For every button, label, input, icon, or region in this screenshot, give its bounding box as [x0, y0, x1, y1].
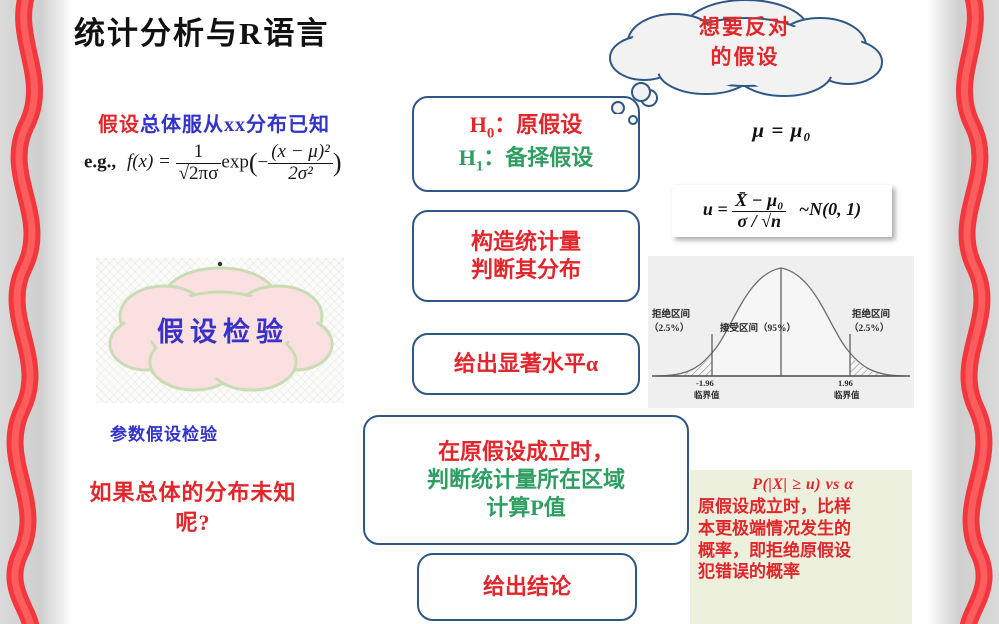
u-formula-numerator: X̄ − μ₀: [732, 191, 786, 211]
normal-pdf-formula: e.g., f(x) = 1 √2πσ exp(− (x − μ)² 2σ² ): [84, 142, 342, 184]
construct-statistic-line1: 构造统计量: [471, 228, 581, 256]
assumption-rest: 总体服从xx分布已知: [140, 114, 330, 136]
mu-equation: μ = μ₀: [652, 118, 912, 143]
h0-text: ：原假设: [494, 112, 582, 137]
right-decorative-band: [927, 0, 999, 624]
pvalue-note-line2: 本更极端情况发生的: [698, 518, 908, 540]
construct-statistic-box[interactable]: 构造统计量 判断其分布: [412, 210, 640, 302]
left-critical-value: -1.96: [696, 378, 714, 388]
u-statistic-formula-box: u = X̄ − μ₀ σ / √n ~N(0, 1): [672, 185, 892, 237]
right-reject-label-line1: 拒绝区间: [852, 306, 890, 320]
accept-region-label: 接受区间（95%）: [720, 320, 796, 334]
formula-numerator: 1: [176, 142, 222, 164]
right-critical-value: 1.96: [838, 378, 853, 388]
left-wave-icon: [0, 0, 72, 624]
conclusion-line: 给出结论: [483, 573, 571, 601]
u-formula-denominator: σ / √n: [732, 212, 786, 231]
left-critical-label: 临界值: [694, 389, 720, 401]
u-statistic-formula: u = X̄ − μ₀ σ / √n ~N(0, 1): [703, 191, 861, 231]
left-reject-label-line2: （2.5%）: [649, 320, 689, 334]
page-title: 统计分析与R语言: [74, 8, 329, 53]
normal-distribution-diagram: 拒绝区间 （2.5%） 接受区间（95%） 拒绝区间 （2.5%） -1.96 …: [648, 256, 914, 408]
alt-hypothesis-line: H1：备择假设: [459, 144, 594, 177]
formula-lhs: f(x) =: [127, 151, 171, 172]
u-formula-distribution: ~N(0, 1): [799, 199, 861, 219]
pvalue-note-body: 原假设成立时，比样 本更极端情况发生的 概率，即拒绝原假设 犯错误的概率: [698, 496, 908, 583]
h1-text: ：备择假设: [483, 145, 593, 170]
formula-prefix: e.g.,: [84, 151, 116, 172]
construct-statistic-line2: 判断其分布: [471, 256, 581, 284]
u-formula-lhs: u =: [703, 199, 728, 219]
pvalue-note-line1: 原假设成立时，比样: [698, 496, 908, 518]
left-reject-label-line1: 拒绝区间: [652, 306, 690, 320]
pvalue-box[interactable]: 在原假设成立时， 判断统计量所在区域 计算P值: [363, 415, 689, 545]
formula-denominator: √2πσ: [176, 164, 222, 185]
formula-inner-fraction: (x − μ)² 2σ²: [268, 142, 333, 184]
significance-level-box[interactable]: 给出显著水平α: [412, 333, 640, 395]
pvalue-line1: 在原假设成立时，: [438, 438, 614, 466]
parametric-test-label: 参数假设检验: [110, 420, 218, 445]
pvalue-note-line3: 概率，即拒绝原假设: [698, 540, 908, 562]
null-hypothesis-line: H0：原假设: [470, 111, 583, 144]
u-formula-fraction: X̄ − μ₀ σ / √n: [732, 191, 786, 231]
h1-symbol: H: [459, 145, 476, 170]
cloud-image-label: 假设检验: [96, 310, 344, 349]
significance-level-line: 给出显著水平α: [454, 350, 598, 378]
assumption-line: 假设总体服从xx分布已知: [98, 108, 330, 137]
formula-fraction: 1 √2πσ: [176, 142, 222, 184]
formula-exp: exp: [221, 151, 248, 172]
thought-cloud-callout: 想要反对 的假设: [596, 0, 888, 114]
left-decorative-band: [0, 0, 72, 624]
h0-symbol: H: [470, 112, 487, 137]
thought-cloud-line1: 想要反对: [630, 12, 860, 42]
right-reject-label-line2: （2.5%）: [849, 320, 889, 334]
pvalue-explanation-note: P(|X| ≥ u) vs α 原假设成立时，比样 本更极端情况发生的 概率，即…: [690, 470, 912, 624]
right-wave-icon: [927, 0, 999, 624]
hypothesis-test-cloud-image: 假设检验: [96, 258, 344, 403]
assumption-keyword: 假设: [98, 114, 140, 136]
formula-inner-denominator: 2σ²: [268, 164, 333, 185]
right-critical-label: 临界值: [834, 389, 860, 401]
thought-cloud-line2: 的假设: [630, 42, 860, 72]
callout-bubble-small: [628, 115, 638, 125]
formula-inner-numerator: (x − μ)²: [268, 142, 333, 164]
thought-cloud-text: 想要反对 的假设: [630, 12, 860, 73]
unknown-distribution-question: 如果总体的分布未知呢?: [88, 478, 298, 537]
pvalue-line2: 判断统计量所在区域: [427, 466, 625, 494]
pvalue-note-line4: 犯错误的概率: [698, 561, 908, 583]
pvalue-note-head: P(|X| ≥ u) vs α: [698, 476, 908, 494]
conclusion-box[interactable]: 给出结论: [417, 553, 637, 621]
slide-canvas: 统计分析与R语言 假设总体服从xx分布已知 e.g., f(x) = 1 √2π…: [0, 0, 999, 624]
pvalue-line3: 计算P值: [486, 494, 565, 522]
